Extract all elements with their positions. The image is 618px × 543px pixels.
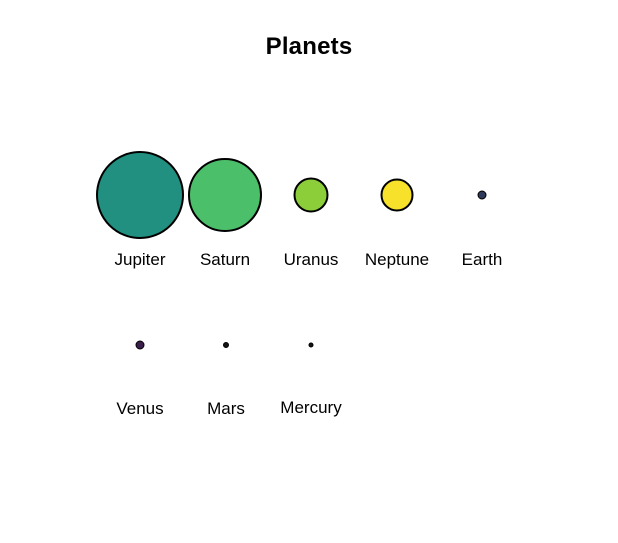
planet-label-neptune: Neptune [365,251,429,268]
planet-label-jupiter: Jupiter [114,251,165,268]
planet-label-venus: Venus [116,400,163,417]
planet-label-mars: Mars [207,400,245,417]
planet-bubble-neptune[interactable] [381,179,414,212]
planet-label-saturn: Saturn [200,251,250,268]
planets-chart-canvas: Planets JupiterSaturnUranusNeptuneEarthV… [0,0,618,543]
planet-bubble-mars[interactable] [223,342,229,348]
planet-bubble-mercury[interactable] [309,343,314,348]
planet-label-earth: Earth [462,251,503,268]
planet-bubble-earth[interactable] [478,191,487,200]
planet-label-mercury: Mercury [280,399,341,416]
planet-label-uranus: Uranus [284,251,339,268]
planet-bubble-saturn[interactable] [188,158,262,232]
planet-bubble-jupiter[interactable] [96,151,184,239]
planet-bubble-venus[interactable] [136,341,145,350]
planet-bubble-uranus[interactable] [294,178,329,213]
page-title: Planets [0,33,618,61]
